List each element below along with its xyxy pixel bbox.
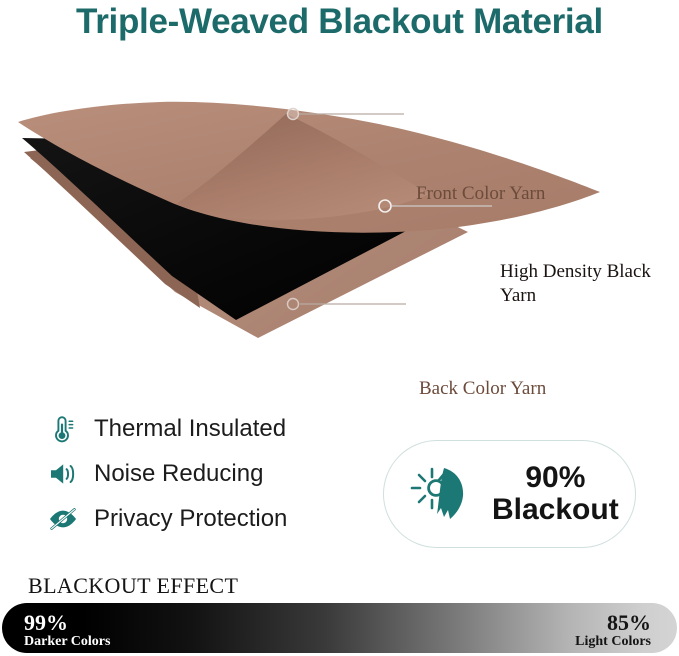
thermometer-icon: [46, 412, 80, 446]
page-title: Triple-Weaved Blackout Material: [0, 2, 679, 42]
blackout-effect-gradient-bar: 99% Darker Colors 85% Light Colors: [2, 603, 677, 653]
badge-text: 90% Blackout: [492, 462, 619, 527]
callout-label-back-color-yarn: Back Color Yarn: [419, 377, 546, 401]
bar-right-sublabel: Light Colors: [575, 635, 651, 650]
callout-label-high-density-black-yarn: High Density Black Yarn: [500, 260, 670, 308]
feature-label: Privacy Protection: [94, 505, 287, 533]
fabric-layers-illustration: [0, 80, 679, 360]
bar-left-value: 99% Darker Colors: [24, 611, 110, 650]
bar-left-percent: 99%: [24, 611, 110, 634]
feature-label: Thermal Insulated: [94, 415, 286, 443]
badge-word: Blackout: [492, 494, 619, 526]
feature-item-privacy-protection: Privacy Protection: [46, 498, 376, 540]
feature-item-noise-reducing: Noise Reducing: [46, 453, 376, 495]
bar-right-value: 85% Light Colors: [575, 611, 651, 650]
eye-slash-icon: [46, 502, 80, 536]
feature-label: Noise Reducing: [94, 460, 263, 488]
bar-left-sublabel: Darker Colors: [24, 635, 110, 650]
feature-list: Thermal Insulated Noise Reducing Privacy…: [46, 408, 376, 543]
sun-blocked-by-curtain-icon: [406, 462, 480, 526]
callout-label-front-color-yarn: Front Color Yarn: [416, 182, 545, 206]
fabric-layers-diagram: Front Color Yarn High Density Black Yarn…: [0, 80, 679, 360]
speaker-sound-icon: [46, 457, 80, 491]
bar-right-percent: 85%: [575, 611, 651, 634]
blackout-percentage-badge: 90% Blackout: [383, 440, 636, 548]
feature-item-thermal-insulated: Thermal Insulated: [46, 408, 376, 450]
badge-percent: 90%: [492, 462, 619, 494]
blackout-effect-heading: BLACKOUT EFFECT: [28, 573, 238, 599]
